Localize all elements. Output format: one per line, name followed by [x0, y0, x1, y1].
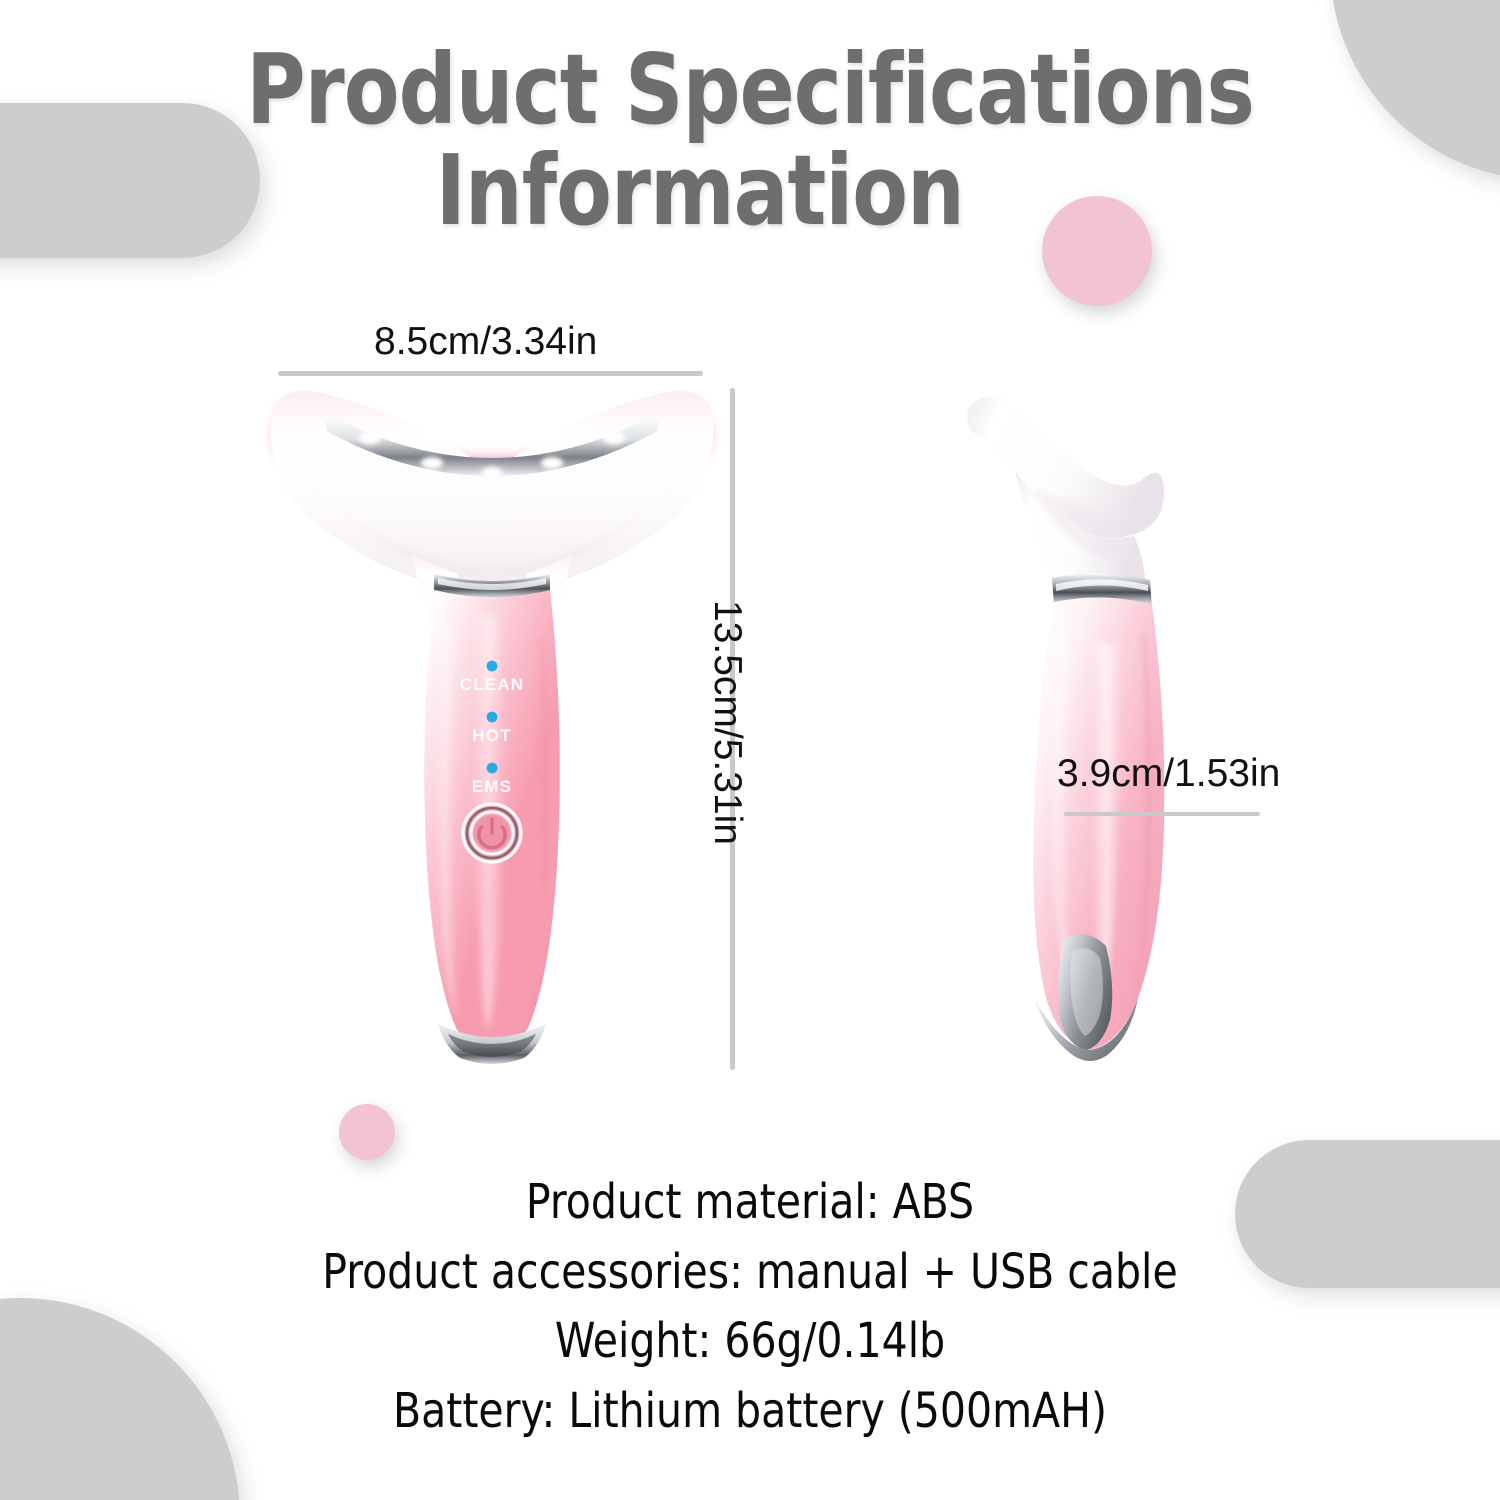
spec-item-material: Product material: ABS — [38, 1168, 1463, 1238]
spec-item-battery: Battery: Lithium battery (500mAH) — [38, 1377, 1463, 1447]
dimension-height-label: 13.5cm/5.31in — [705, 600, 749, 845]
spec-item-weight: Weight: 66g/0.14lb — [38, 1307, 1463, 1377]
dimension-width-rule — [278, 371, 703, 376]
product-image-side-view — [930, 380, 1230, 1080]
product-image-front-view: CLEAN HOT EMS — [262, 378, 722, 1078]
product-spec-infographic: Product Specifications Information 8.5cm… — [0, 0, 1500, 1500]
dimension-width-label: 8.5cm/3.34in — [374, 320, 597, 364]
page-title: Product Specifications Information — [0, 40, 1500, 242]
led-indicator-ems — [487, 763, 498, 774]
page-title-line-2: Information — [53, 141, 1448, 242]
dimension-small-width-rule — [1064, 812, 1260, 816]
mode-label-clean: CLEAN — [460, 675, 525, 694]
led-indicator-hot — [487, 712, 498, 723]
power-button — [462, 803, 522, 863]
decor-pink-dot-small — [339, 1104, 395, 1160]
page-title-line-1: Product Specifications — [53, 40, 1448, 141]
dimension-small-width-label: 3.9cm/1.53in — [1057, 752, 1280, 796]
mode-label-ems: EMS — [472, 777, 512, 796]
spec-item-accessories: Product accessories: manual + USB cable — [38, 1238, 1463, 1308]
specification-list: Product material: ABS Product accessorie… — [0, 1168, 1500, 1446]
mode-label-hot: HOT — [472, 726, 511, 745]
led-indicator-clean — [487, 661, 498, 672]
